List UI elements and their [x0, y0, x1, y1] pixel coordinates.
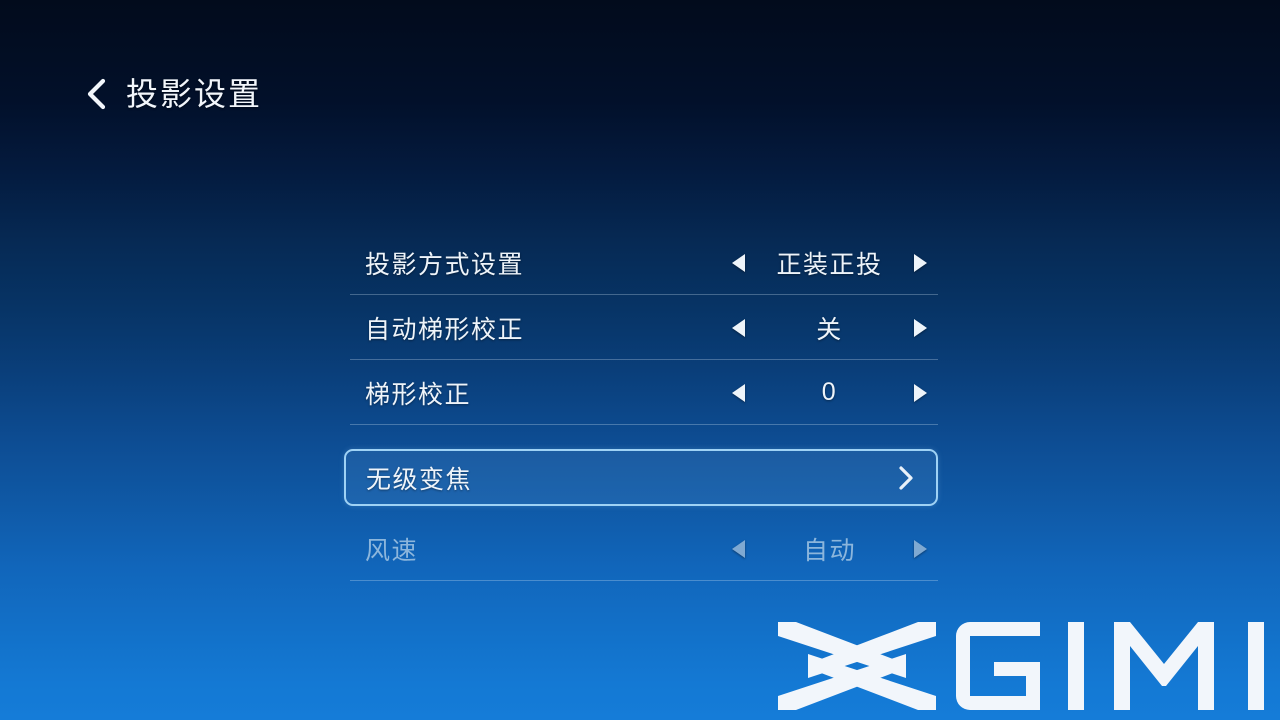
row-label: 无级变焦 [366, 460, 472, 496]
xgimi-logo [778, 620, 1280, 712]
row-value: 自动 [745, 531, 914, 567]
settings-row-keystone[interactable]: 梯形校正 0 [345, 360, 935, 425]
settings-row-stepless-zoom[interactable]: 无级变焦 [344, 449, 938, 506]
projector-settings-screen: 投影设置 投影方式设置 正装正投 自动梯形校正 关 梯形校正 [0, 0, 1280, 720]
page-title: 投影设置 [126, 76, 262, 112]
chevron-right-icon[interactable] [898, 465, 914, 491]
row-label: 投影方式设置 [365, 245, 524, 281]
triangle-left-icon[interactable] [732, 319, 745, 337]
row-stepper: 0 [720, 360, 935, 425]
row-value: 关 [745, 310, 914, 346]
row-value: 0 [745, 378, 914, 407]
row-label: 风速 [365, 531, 418, 567]
triangle-right-icon[interactable] [914, 254, 927, 272]
settings-row-projection-mode[interactable]: 投影方式设置 正装正投 [345, 230, 935, 295]
triangle-right-icon[interactable] [914, 384, 927, 402]
triangle-left-icon[interactable] [732, 384, 745, 402]
triangle-left-icon [732, 540, 745, 558]
row-stepper: 关 [720, 295, 935, 360]
row-label: 梯形校正 [365, 375, 471, 411]
row-stepper: 自动 [720, 516, 935, 581]
page-header: 投影设置 [84, 66, 262, 122]
row-divider [350, 424, 938, 425]
settings-row-fan-speed: 风速 自动 [345, 516, 935, 581]
settings-list: 投影方式设置 正装正投 自动梯形校正 关 梯形校正 0 [345, 230, 935, 581]
triangle-right-icon [914, 540, 927, 558]
row-value: 正装正投 [745, 245, 914, 281]
triangle-left-icon[interactable] [732, 254, 745, 272]
row-divider [350, 580, 938, 581]
chevron-left-icon[interactable] [84, 76, 108, 112]
triangle-right-icon[interactable] [914, 319, 927, 337]
settings-row-auto-keystone[interactable]: 自动梯形校正 关 [345, 295, 935, 360]
row-label: 自动梯形校正 [365, 310, 524, 346]
row-stepper: 正装正投 [720, 230, 935, 295]
